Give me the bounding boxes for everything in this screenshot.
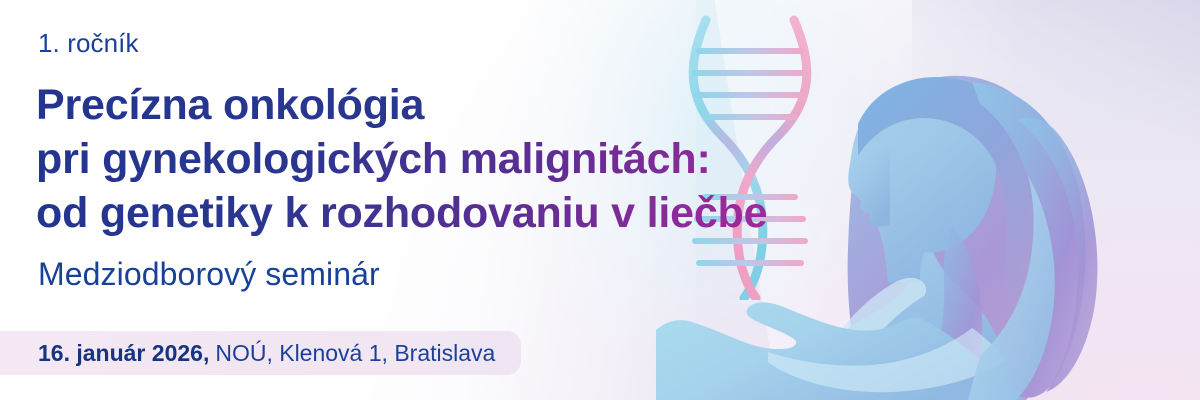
- page-title: Precízna onkológia pri gynekologických m…: [36, 78, 767, 240]
- edition-kicker: 1. ročník: [38, 30, 139, 56]
- event-banner: 1. ročník Precízna onkológia pri gynekol…: [0, 0, 1200, 400]
- event-date: 16. január 2026,: [38, 340, 209, 367]
- headline-line-1: Precízna onkológia: [36, 78, 767, 132]
- event-subtitle: Medziodborový seminár: [38, 255, 380, 293]
- headline-line-3: od genetiky k rozhodovaniu v liečbe: [36, 186, 767, 240]
- event-venue: NOÚ, Klenová 1, Bratislava: [215, 340, 495, 367]
- banner-content: 1. ročník Precízna onkológia pri gynekol…: [0, 0, 1200, 400]
- date-location-badge: 16. január 2026, NOÚ, Klenová 1, Bratisl…: [0, 331, 521, 375]
- headline-line-2: pri gynekologických malignitách:: [36, 132, 767, 186]
